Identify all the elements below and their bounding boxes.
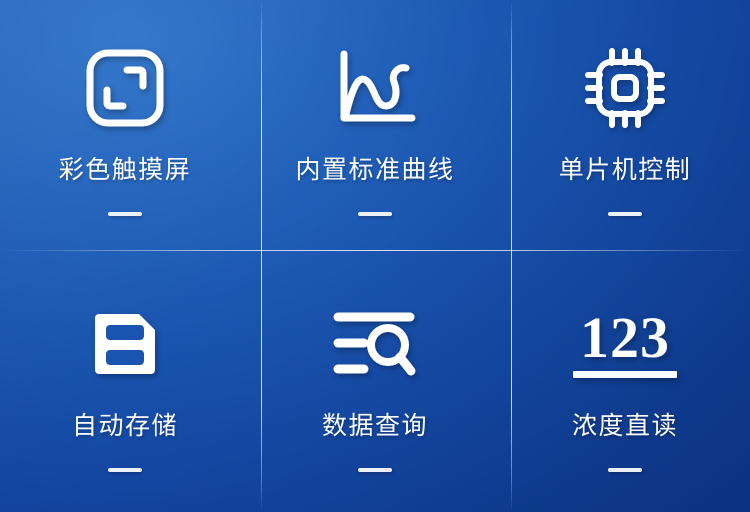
feature-label: 自动存储 xyxy=(72,406,178,442)
feature-label: 内置标准曲线 xyxy=(295,150,454,186)
touchscreen-expand-icon xyxy=(85,40,165,136)
digits-123-icon: 123 xyxy=(573,296,677,392)
feature-cell-microcontroller: 单片机控制 xyxy=(500,0,750,256)
feature-underline-dash xyxy=(358,212,392,216)
floppy-disk-save-icon xyxy=(87,296,163,392)
feature-banner: 彩色触摸屏 内置标准曲线 xyxy=(0,0,750,512)
digits-underline-bar xyxy=(573,371,677,378)
feature-label: 单片机控制 xyxy=(559,150,692,186)
feature-underline-dash xyxy=(608,468,642,472)
feature-cell-data-query: 数据查询 xyxy=(250,256,500,512)
feature-underline-dash xyxy=(608,212,642,216)
feature-cell-standard-curve: 内置标准曲线 xyxy=(250,0,500,256)
feature-underline-dash xyxy=(108,212,142,216)
digits-123-text: 123 xyxy=(573,310,677,365)
feature-cell-direct-reading: 123 浓度直读 xyxy=(500,256,750,512)
microchip-cpu-icon xyxy=(583,40,667,136)
feature-label: 数据查询 xyxy=(322,406,428,442)
feature-underline-dash xyxy=(358,468,392,472)
feature-grid: 彩色触摸屏 内置标准曲线 xyxy=(0,0,750,512)
list-search-icon xyxy=(331,296,419,392)
feature-label: 浓度直读 xyxy=(572,406,678,442)
feature-underline-dash xyxy=(108,468,142,472)
feature-cell-auto-storage: 自动存储 xyxy=(0,256,250,512)
standard-curve-chart-icon xyxy=(332,40,418,136)
feature-label: 彩色触摸屏 xyxy=(59,150,192,186)
feature-cell-color-touchscreen: 彩色触摸屏 xyxy=(0,0,250,256)
